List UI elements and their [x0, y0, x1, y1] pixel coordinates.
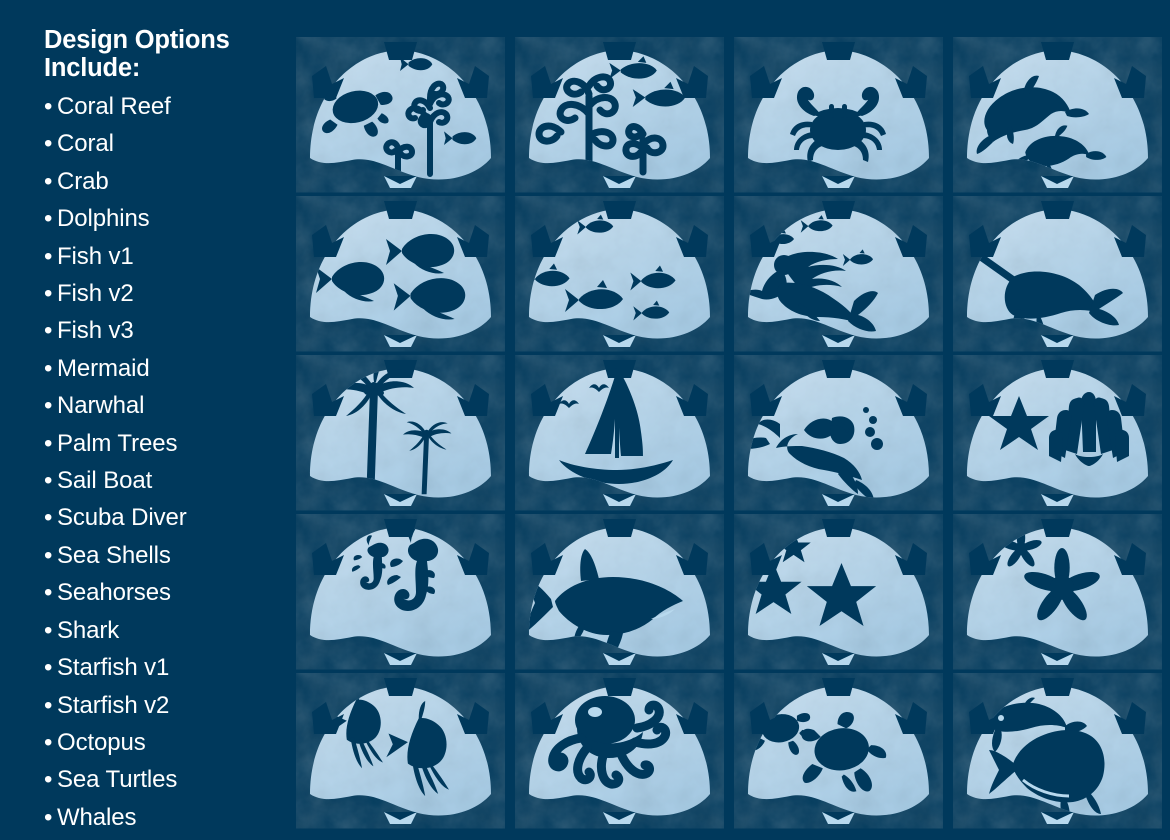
design-option-label: Fish v3: [57, 317, 134, 344]
design-option-label: Palm Trees: [57, 430, 177, 457]
bullet-glyph: •: [44, 200, 57, 237]
design-options-list: •Coral Reef•Coral•Crab•Dolphins•Fish v1•…: [44, 88, 294, 836]
stencil-card-scuba-diver[interactable]: [734, 354, 943, 511]
stencil-card-fish-v2[interactable]: [515, 195, 724, 352]
design-option-item: •Coral: [44, 125, 294, 162]
design-option-item: •Crab: [44, 163, 294, 200]
stencil-card-narwhal[interactable]: [953, 195, 1162, 352]
design-option-label: Scuba Diver: [57, 504, 187, 531]
design-option-label: Sea Shells: [57, 542, 171, 569]
design-option-label: Seahorses: [57, 579, 171, 606]
bullet-glyph: •: [44, 163, 57, 200]
bullet-glyph: •: [44, 574, 57, 611]
design-option-label: Narwhal: [57, 392, 144, 419]
stencil-card-palm-trees[interactable]: [296, 354, 505, 511]
stencil-plate: [296, 195, 505, 352]
bullet-glyph: •: [44, 387, 57, 424]
stencil-card-shark[interactable]: [515, 513, 724, 670]
stencil-card-whales[interactable]: [953, 672, 1162, 829]
stencil-plate: [734, 36, 943, 193]
design-option-item: •Palm Trees: [44, 425, 294, 462]
bullet-glyph: •: [44, 88, 57, 125]
design-option-label: Fish v2: [57, 280, 134, 307]
stencil-plate: [296, 36, 505, 193]
stencil-card-mermaid[interactable]: [734, 195, 943, 352]
design-option-item: •Whales: [44, 799, 294, 836]
design-option-item: •Fish v1: [44, 238, 294, 275]
stencil-card-fish-v3[interactable]: [296, 672, 505, 829]
design-option-item: •Sea Shells: [44, 537, 294, 574]
bullet-glyph: •: [44, 425, 57, 462]
design-option-item: •Fish v2: [44, 275, 294, 312]
stencil-plate: [515, 672, 724, 829]
design-option-label: Crab: [57, 168, 109, 195]
design-option-item: •Fish v3: [44, 312, 294, 349]
design-option-item: •Starfish v1: [44, 649, 294, 686]
design-option-item: •Dolphins: [44, 200, 294, 237]
stencil-card-coral-reef[interactable]: [296, 36, 505, 193]
design-option-item: •Sail Boat: [44, 462, 294, 499]
stencil-card-octopus[interactable]: [515, 672, 724, 829]
design-option-label: Starfish v2: [57, 692, 169, 719]
bullet-glyph: •: [44, 275, 57, 312]
stencil-plate-body: [967, 201, 1148, 347]
bullet-glyph: •: [44, 761, 57, 798]
stencil-plate: [953, 195, 1162, 352]
design-option-item: •Seahorses: [44, 574, 294, 611]
stencil-plate: [734, 195, 943, 352]
bullet-glyph: •: [44, 799, 57, 836]
design-option-label: Sail Boat: [57, 467, 152, 494]
bullet-glyph: •: [44, 649, 57, 686]
design-option-label: Octopus: [57, 729, 146, 756]
stencil-plate: [296, 513, 505, 670]
bullet-glyph: •: [44, 350, 57, 387]
bullet-glyph: •: [44, 612, 57, 649]
bullet-glyph: •: [44, 537, 57, 574]
stencil-card-starfish-v2[interactable]: [953, 513, 1162, 670]
design-options-panel: Design Options Include: •Coral Reef•Cora…: [44, 26, 294, 826]
design-option-item: •Starfish v2: [44, 687, 294, 724]
stencil-plate: [953, 354, 1162, 511]
bullet-glyph: •: [44, 238, 57, 275]
bullet-glyph: •: [44, 462, 57, 499]
design-option-item: •Coral Reef: [44, 88, 294, 125]
design-option-item: •Mermaid: [44, 350, 294, 387]
stencil-grid: [296, 36, 1156, 836]
stencil-card-fish-v1[interactable]: [296, 195, 505, 352]
design-option-label: Coral: [57, 130, 114, 157]
stencil-plate: [953, 672, 1162, 829]
design-option-label: Coral Reef: [57, 93, 171, 120]
stencil-plate: [515, 513, 724, 670]
design-option-label: Mermaid: [57, 355, 150, 382]
stencil-plate: [953, 513, 1162, 670]
design-option-label: Starfish v1: [57, 654, 169, 681]
stencil-card-dolphins[interactable]: [953, 36, 1162, 193]
stencil-plate: [296, 672, 505, 829]
design-option-label: Shark: [57, 617, 119, 644]
poster-canvas: Design Options Include: •Coral Reef•Cora…: [0, 0, 1170, 840]
design-option-label: Dolphins: [57, 205, 150, 232]
stencil-plate: [296, 354, 505, 511]
stencil-plate-body: [310, 678, 491, 824]
bullet-glyph: •: [44, 724, 57, 761]
bullet-glyph: •: [44, 687, 57, 724]
stencil-card-sea-shells[interactable]: [953, 354, 1162, 511]
stencil-card-sea-turtles[interactable]: [734, 672, 943, 829]
stencil-plate-body: [529, 42, 710, 188]
stencil-card-seahorses[interactable]: [296, 513, 505, 670]
stencil-plate: [734, 672, 943, 829]
stencil-card-starfish-v1[interactable]: [734, 513, 943, 670]
stencil-plate: [953, 36, 1162, 193]
bullet-glyph: •: [44, 125, 57, 162]
design-option-item: •Shark: [44, 612, 294, 649]
stencil-card-crab[interactable]: [734, 36, 943, 193]
stencil-plate: [515, 354, 724, 511]
design-option-label: Fish v1: [57, 243, 134, 270]
stencil-card-coral[interactable]: [515, 36, 724, 193]
bullet-glyph: •: [44, 312, 57, 349]
panel-heading-line-2: Include:: [44, 54, 294, 82]
design-option-item: •Narwhal: [44, 387, 294, 424]
design-option-item: •Scuba Diver: [44, 499, 294, 536]
design-option-item: •Sea Turtles: [44, 761, 294, 798]
stencil-plate: [515, 195, 724, 352]
panel-heading-line-1: Design Options: [44, 26, 294, 54]
stencil-plate: [515, 36, 724, 193]
stencil-plate: [734, 354, 943, 511]
design-option-label: Sea Turtles: [57, 766, 177, 793]
stencil-plate: [734, 513, 943, 670]
stencil-card-sail-boat[interactable]: [515, 354, 724, 511]
design-option-label: Whales: [57, 804, 136, 831]
bullet-glyph: •: [44, 499, 57, 536]
design-option-item: •Octopus: [44, 724, 294, 761]
